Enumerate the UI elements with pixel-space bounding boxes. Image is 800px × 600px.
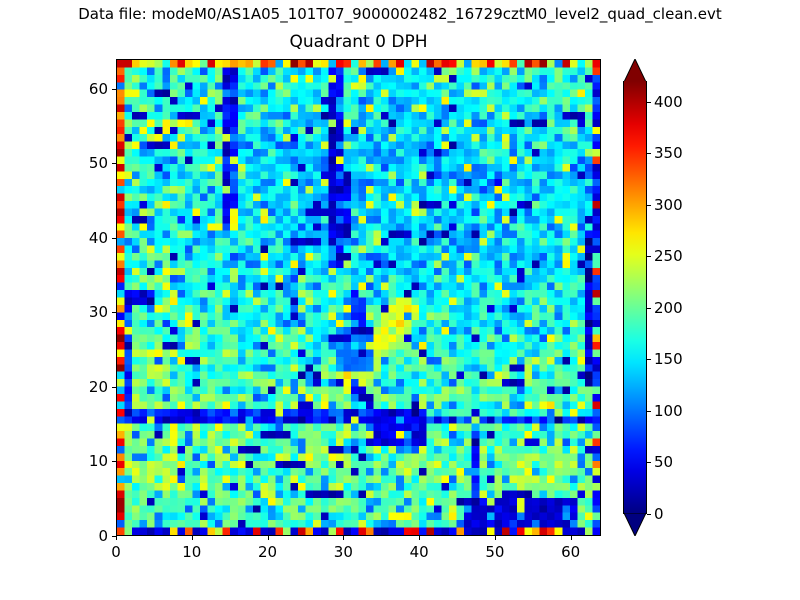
colorbar-gradient bbox=[623, 81, 647, 514]
colorbar-tick-mark bbox=[647, 308, 651, 309]
figure-suptitle: Data file: modeM0/AS1A05_101T07_90000024… bbox=[0, 5, 800, 23]
colorbar-tick-mark bbox=[647, 256, 651, 257]
y-tick-label: 40 bbox=[64, 229, 108, 247]
colorbar-gradient-fill bbox=[624, 81, 646, 514]
x-tick-label: 10 bbox=[182, 543, 201, 561]
x-tick-mark bbox=[192, 536, 193, 540]
colorbar-tick-label: 0 bbox=[654, 505, 664, 523]
y-tick-mark bbox=[112, 312, 116, 313]
colorbar-over-arrow-icon bbox=[623, 59, 647, 82]
y-tick-mark bbox=[112, 238, 116, 239]
y-tick-mark bbox=[112, 387, 116, 388]
dph-heatmap-image bbox=[117, 60, 600, 535]
colorbar-tick-label: 200 bbox=[654, 299, 683, 317]
figure-canvas: Data file: modeM0/AS1A05_101T07_90000024… bbox=[0, 0, 800, 600]
x-tick-label: 0 bbox=[111, 543, 121, 561]
x-tick-label: 50 bbox=[485, 543, 504, 561]
colorbar-tick-mark bbox=[647, 411, 651, 412]
x-tick-mark bbox=[495, 536, 496, 540]
colorbar-tick-label: 250 bbox=[654, 247, 683, 265]
colorbar-tick-mark bbox=[647, 514, 651, 515]
x-tick-mark bbox=[116, 536, 117, 540]
colorbar-tick-label: 50 bbox=[654, 453, 673, 471]
x-tick-mark bbox=[571, 536, 572, 540]
colorbar-tick-label: 100 bbox=[654, 402, 683, 420]
colorbar: 050100150200250300350400 bbox=[623, 59, 647, 536]
colorbar-under-arrow-icon bbox=[623, 513, 647, 536]
colorbar-tick-label: 150 bbox=[654, 350, 683, 368]
y-tick-label: 50 bbox=[64, 154, 108, 172]
y-tick-mark bbox=[112, 461, 116, 462]
heatmap-axes bbox=[116, 59, 601, 536]
x-tick-label: 40 bbox=[410, 543, 429, 561]
y-tick-label: 20 bbox=[64, 378, 108, 396]
y-tick-mark bbox=[112, 536, 116, 537]
colorbar-tick-mark bbox=[647, 462, 651, 463]
colorbar-tick-label: 400 bbox=[654, 93, 683, 111]
x-tick-label: 30 bbox=[334, 543, 353, 561]
page-title: Quadrant 0 DPH bbox=[116, 32, 601, 52]
colorbar-tick-label: 350 bbox=[654, 144, 683, 162]
y-tick-mark bbox=[112, 89, 116, 90]
colorbar-tick-mark bbox=[647, 205, 651, 206]
y-tick-label: 60 bbox=[64, 80, 108, 98]
colorbar-tick-mark bbox=[647, 359, 651, 360]
x-tick-label: 60 bbox=[561, 543, 580, 561]
x-tick-mark bbox=[268, 536, 269, 540]
x-tick-mark bbox=[419, 536, 420, 540]
y-tick-mark bbox=[112, 163, 116, 164]
colorbar-tick-label: 300 bbox=[654, 196, 683, 214]
y-tick-label: 30 bbox=[64, 303, 108, 321]
y-tick-label: 10 bbox=[64, 452, 108, 470]
y-tick-label: 0 bbox=[64, 527, 108, 545]
x-tick-label: 20 bbox=[258, 543, 277, 561]
colorbar-tick-mark bbox=[647, 102, 651, 103]
x-tick-mark bbox=[343, 536, 344, 540]
colorbar-tick-mark bbox=[647, 153, 651, 154]
